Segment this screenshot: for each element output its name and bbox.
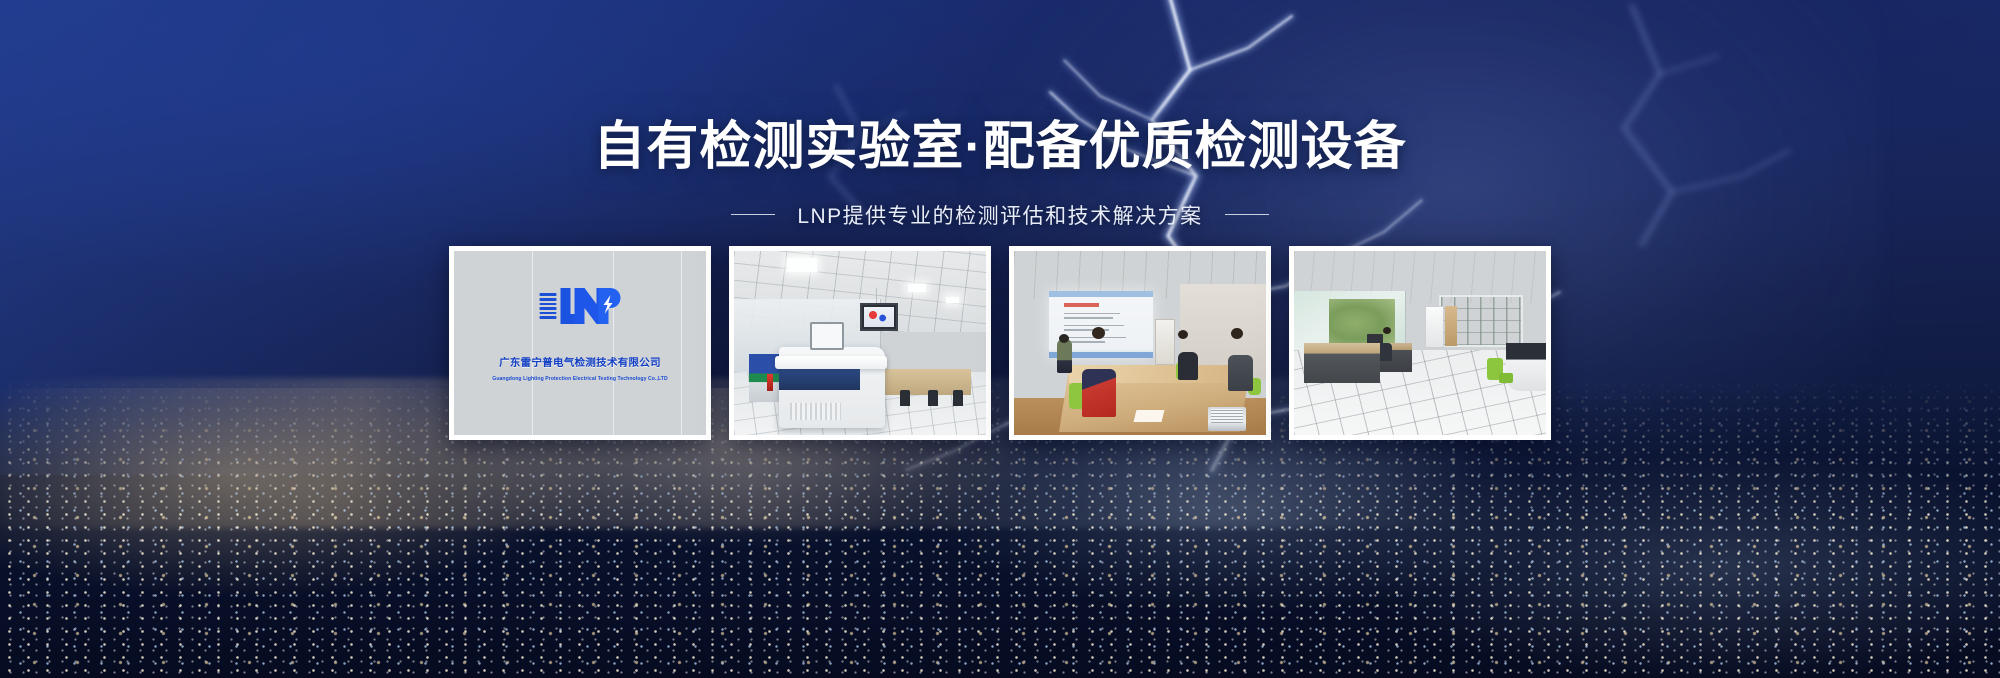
presenter [1057, 339, 1072, 373]
office-chair [928, 390, 938, 406]
gallery-item-open-office[interactable] [1289, 246, 1551, 440]
attendee-front [1082, 369, 1116, 417]
wooden-shelf [1445, 306, 1457, 346]
gallery-item-training-meeting-room[interactable] [1009, 246, 1271, 440]
lnp-monogram-icon [559, 286, 621, 326]
air-conditioner [1155, 319, 1175, 365]
wall-seam [613, 251, 614, 435]
company-name-en: Guangdong Lighting Protection Electrical… [492, 376, 667, 382]
page-title: 自有检测实验室·配备优质检测设备 [0, 118, 2000, 178]
console-monitor [810, 322, 844, 350]
office-chair [953, 390, 963, 406]
photo-training-meeting-room [1014, 251, 1266, 435]
ceiling-light [946, 297, 959, 303]
lnp-logo-icon [540, 286, 621, 326]
laptop [1208, 407, 1246, 431]
office-desk [1304, 343, 1380, 383]
lnp-logo-bars-icon [540, 293, 557, 319]
green-chair [1499, 373, 1513, 383]
documents-on-table [1133, 410, 1164, 422]
wall-seam [681, 251, 682, 435]
hero-banner: 自有检测实验室·配备优质检测设备 LNP提供专业的检测评估和技术解决方案 [0, 0, 2000, 678]
control-console [779, 347, 885, 428]
divider-right-icon [1225, 214, 1269, 215]
storage-cabinet [1425, 306, 1444, 348]
gallery-strip: 广东雷宁普电气检测技术有限公司 Guangdong Lighting Prote… [0, 246, 2000, 440]
red-insulator [767, 374, 773, 391]
ceiling-light [908, 284, 926, 292]
reception-counter [1506, 343, 1546, 391]
attendee [1178, 352, 1198, 380]
company-name-cn: 广东雷宁普电气检测技术有限公司 [499, 354, 661, 369]
hero-subtitle-row: LNP提供专业的检测评估和技术解决方案 [0, 200, 2000, 230]
wall-monitor [860, 303, 898, 331]
hero-text-block: 自有检测实验室·配备优质检测设备 LNP提供专业的检测评估和技术解决方案 [0, 118, 2000, 230]
photo-company-logo-wall: 广东雷宁普电气检测技术有限公司 Guangdong Lighting Prote… [454, 251, 706, 435]
divider-left-icon [731, 214, 775, 215]
office-worker [1380, 343, 1392, 361]
ceiling-light [787, 258, 817, 272]
hero-subtitle: LNP提供专业的检测评估和技术解决方案 [797, 200, 1202, 230]
photo-open-office [1294, 251, 1546, 435]
office-chair [900, 390, 910, 406]
photo-high-voltage-lab [734, 251, 986, 435]
wall-seam [532, 251, 533, 435]
attendee [1228, 355, 1253, 391]
gallery-item-high-voltage-lab[interactable] [729, 246, 991, 440]
gallery-item-company-logo-wall[interactable]: 广东雷宁普电气检测技术有限公司 Guangdong Lighting Prote… [449, 246, 711, 440]
outdoor-foliage [1329, 299, 1395, 347]
